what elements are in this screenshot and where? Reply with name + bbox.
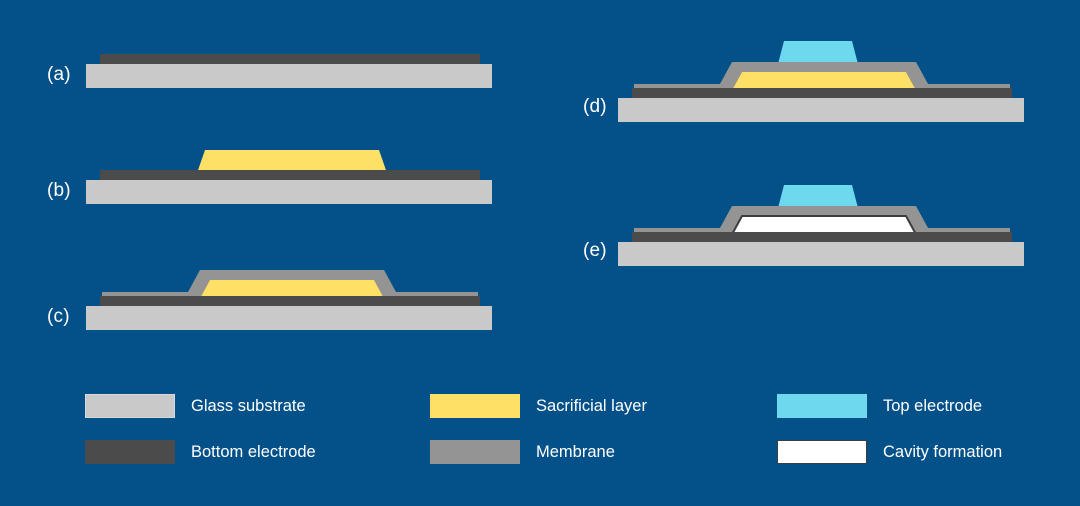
panel-d-glass-substrate xyxy=(618,98,1024,122)
process-flow-diagram xyxy=(0,0,1080,506)
figure-canvas: (a) (b) (c) (d) (e) Glass substrate Bott… xyxy=(0,0,1080,506)
panel-label-e: (e) xyxy=(583,240,607,262)
legend-label-sacrificial-layer: Sacrificial layer xyxy=(536,397,647,416)
panel-label-b: (b) xyxy=(47,180,71,202)
panel-c xyxy=(86,270,492,330)
panel-a-glass-substrate xyxy=(86,64,492,88)
panel-label-a: (a) xyxy=(47,64,71,86)
panel-d-top-electrode xyxy=(778,41,858,64)
legend-swatch-sacrificial-layer xyxy=(430,394,520,418)
panel-d xyxy=(618,41,1024,122)
legend-label-bottom-electrode: Bottom electrode xyxy=(191,443,316,462)
panel-c-glass-substrate xyxy=(86,306,492,330)
panel-a xyxy=(86,54,492,88)
panel-label-d: (d) xyxy=(583,96,607,118)
panel-e-top-electrode xyxy=(778,185,858,208)
panel-label-c: (c) xyxy=(47,306,70,328)
panel-e-glass-substrate xyxy=(618,242,1024,266)
legend-swatch-top-electrode xyxy=(777,394,867,418)
legend-swatch-cavity-formation xyxy=(777,440,867,464)
legend-swatch-membrane xyxy=(430,440,520,464)
legend-label-glass-substrate: Glass substrate xyxy=(191,397,306,416)
legend-label-top-electrode: Top electrode xyxy=(883,397,982,416)
panel-b-glass-substrate xyxy=(86,180,492,204)
panel-e xyxy=(618,185,1024,266)
legend-label-cavity-formation: Cavity formation xyxy=(883,443,1002,462)
legend-swatch-bottom-electrode xyxy=(85,440,175,464)
panel-b xyxy=(86,150,492,204)
legend-label-membrane: Membrane xyxy=(536,443,615,462)
legend-swatch-glass-substrate xyxy=(85,394,175,418)
